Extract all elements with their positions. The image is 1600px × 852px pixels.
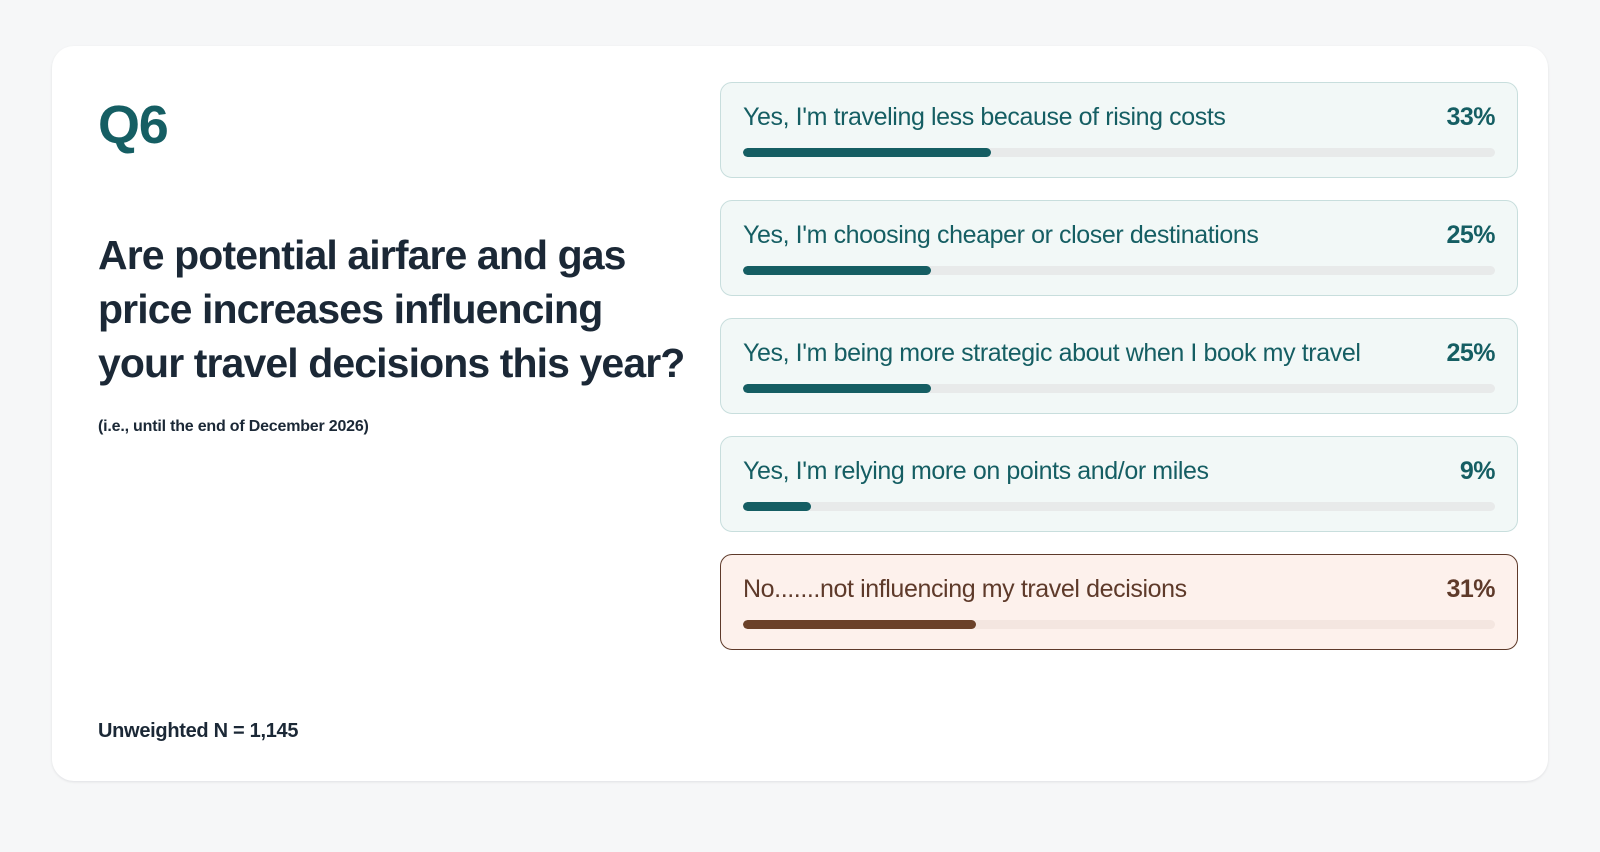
answer-label: Yes, I'm relying more on points and/or m… bbox=[743, 457, 1209, 486]
answer-label: Yes, I'm choosing cheaper or closer dest… bbox=[743, 221, 1259, 250]
question-number: Q6 bbox=[98, 98, 712, 152]
answer-row[interactable]: Yes, I'm being more strategic about when… bbox=[720, 318, 1518, 414]
answer-percentage: 31% bbox=[1446, 575, 1495, 604]
answer-percentage: 25% bbox=[1446, 339, 1495, 368]
answer-row[interactable]: No.......not influencing my travel decis… bbox=[720, 554, 1518, 650]
page-title: Are potential airfare and gas price incr… bbox=[98, 228, 698, 390]
answer-row-header: Yes, I'm traveling less because of risin… bbox=[743, 103, 1495, 132]
answer-bar-track bbox=[743, 502, 1495, 511]
answer-bar-track bbox=[743, 266, 1495, 275]
answer-bar-fill bbox=[743, 148, 991, 157]
answer-row-header: Yes, I'm choosing cheaper or closer dest… bbox=[743, 221, 1495, 250]
answer-bar-track bbox=[743, 148, 1495, 157]
answer-percentage: 9% bbox=[1460, 457, 1495, 486]
answer-percentage: 33% bbox=[1446, 103, 1495, 132]
answer-bar-track bbox=[743, 620, 1495, 629]
answer-bar-fill bbox=[743, 502, 811, 511]
answer-row[interactable]: Yes, I'm traveling less because of risin… bbox=[720, 82, 1518, 178]
question-subtitle: (i.e., until the end of December 2026) bbox=[98, 418, 712, 436]
answer-bar-fill bbox=[743, 266, 931, 275]
answer-label: No.......not influencing my travel decis… bbox=[743, 575, 1187, 604]
answer-bar-track bbox=[743, 384, 1495, 393]
question-panel: Q6 Are potential airfare and gas price i… bbox=[52, 46, 712, 781]
answer-bar-fill bbox=[743, 384, 931, 393]
answer-list: Yes, I'm traveling less because of risin… bbox=[712, 46, 1548, 781]
answer-row-header: No.......not influencing my travel decis… bbox=[743, 575, 1495, 604]
answer-label: Yes, I'm being more strategic about when… bbox=[743, 339, 1360, 368]
survey-result-card: Q6 Are potential airfare and gas price i… bbox=[52, 46, 1548, 781]
answer-row-header: Yes, I'm relying more on points and/or m… bbox=[743, 457, 1495, 486]
answer-bar-fill bbox=[743, 620, 976, 629]
answer-row[interactable]: Yes, I'm choosing cheaper or closer dest… bbox=[720, 200, 1518, 296]
page-background: Q6 Are potential airfare and gas price i… bbox=[0, 0, 1600, 852]
answer-row-header: Yes, I'm being more strategic about when… bbox=[743, 339, 1495, 368]
answer-row[interactable]: Yes, I'm relying more on points and/or m… bbox=[720, 436, 1518, 532]
answer-percentage: 25% bbox=[1446, 221, 1495, 250]
answer-label: Yes, I'm traveling less because of risin… bbox=[743, 103, 1226, 132]
sample-size-note: Unweighted N = 1,145 bbox=[98, 720, 298, 743]
